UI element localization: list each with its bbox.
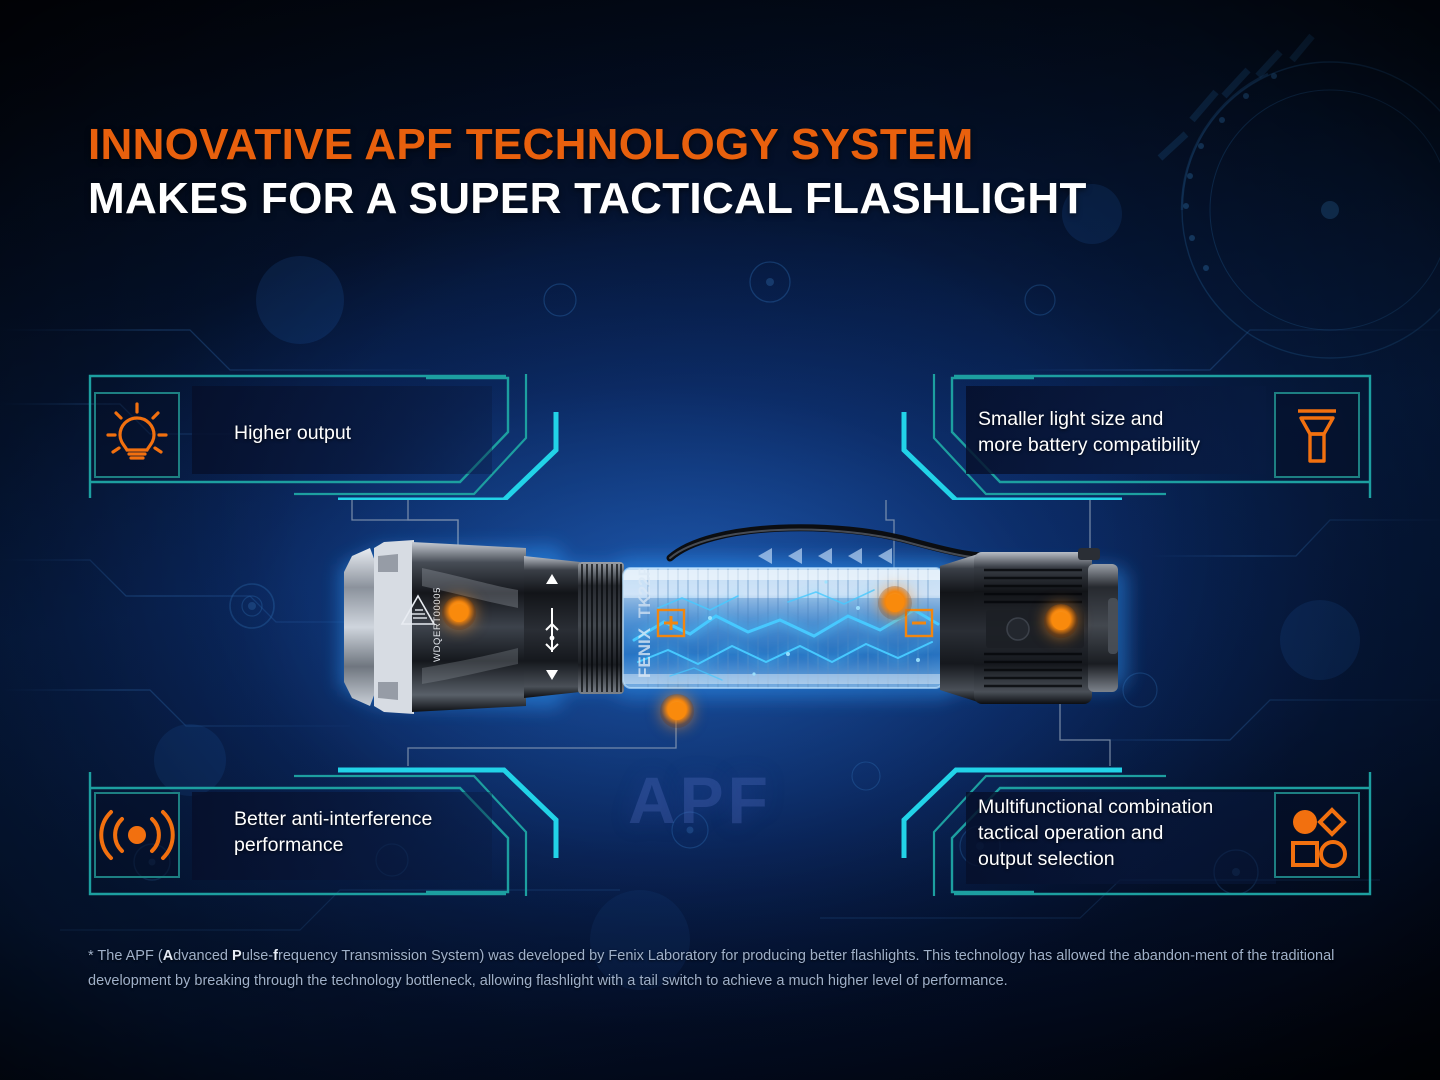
signal-waves-icon: [96, 794, 178, 876]
hotspot-tail[interactable]: [1044, 604, 1078, 638]
apf-watermark: APF: [628, 762, 772, 838]
headline-line-1: INNOVATIVE APF TECHNOLOGY SYSTEM: [88, 118, 1087, 172]
footnote-p: P: [232, 948, 242, 964]
flashlight-icon-box: [1274, 392, 1360, 478]
footnote-a: A: [163, 948, 173, 964]
headline: INNOVATIVE APF TECHNOLOGY SYSTEM MAKES F…: [88, 118, 1087, 226]
signal-waves-icon-box: [94, 792, 180, 878]
card-text-line-2: more battery compatibility: [978, 432, 1200, 458]
card-text-line-1: Multifunctional combination: [978, 794, 1213, 820]
card-text-higher-output: Higher output: [234, 420, 351, 446]
pocket-clip: [670, 528, 1008, 558]
battery-tube: FENIX TK22R: [623, 564, 943, 688]
card-text-line-1: Smaller light size and: [978, 406, 1200, 432]
card-text-anti-interference: Better anti-interference performance: [234, 806, 432, 858]
hotspot-battery-bottom[interactable]: [660, 694, 694, 728]
card-text-line-3: output selection: [978, 846, 1213, 872]
flashlight-tail: [940, 548, 1118, 704]
feature-card-smaller-light-size[interactable]: Smaller light size and more battery comp…: [900, 372, 1372, 500]
card-text-smaller-light-size: Smaller light size and more battery comp…: [978, 406, 1200, 458]
feature-card-multifunctional[interactable]: Multifunctional combination tactical ope…: [900, 766, 1372, 898]
footnote-mid3: requency Transmission System) was develo…: [278, 948, 1195, 964]
hotspot-battery-top[interactable]: [878, 586, 912, 620]
footnote: * The APF (Advanced Pulse-frequency Tran…: [88, 944, 1358, 994]
lightbulb-icon: [96, 394, 178, 476]
card-text-line-2: performance: [234, 832, 432, 858]
footnote-mid2: ulse-: [242, 948, 273, 964]
card-text-line-2: tactical operation and: [978, 820, 1213, 846]
shapes-grid-icon: [1276, 794, 1358, 876]
flashlight-product-image: WDQERT00005: [318, 512, 1158, 742]
battery-brand: FENIX: [635, 627, 654, 678]
flashlight-icon: [1276, 394, 1358, 476]
lightbulb-icon-box: [94, 392, 180, 478]
feature-card-anti-interference[interactable]: Better anti-interference performance: [88, 766, 582, 898]
tail-switch: [1007, 618, 1029, 640]
headline-line-2: MAKES FOR A SUPER TACTICAL FLASHLIGHT: [88, 172, 1087, 226]
card-text-multifunctional: Multifunctional combination tactical ope…: [978, 794, 1213, 872]
footnote-mid1: dvanced: [173, 948, 232, 964]
infographic-canvas: INNOVATIVE APF TECHNOLOGY SYSTEM MAKES F…: [0, 0, 1440, 1080]
battery-model: TK22R: [635, 564, 654, 618]
flashlight-svg: WDQERT00005: [318, 512, 1158, 742]
knurled-ring: [578, 562, 624, 694]
footnote-prefix: * The APF (: [88, 948, 163, 964]
shapes-grid-icon-box: [1274, 792, 1360, 878]
card-text-line-1: Better anti-interference: [234, 806, 432, 832]
hotspot-head[interactable]: [442, 596, 476, 630]
feature-card-higher-output[interactable]: Higher output: [88, 372, 582, 500]
